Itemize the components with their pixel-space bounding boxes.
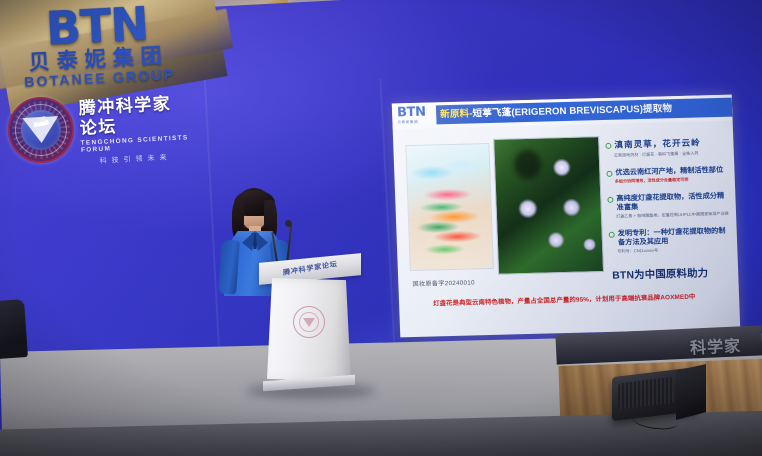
list-item: 滇南灵草，花开云岭 云南道地药材 · 灯盏花 · 菊科飞蓬属 · 全株入药 (605, 137, 728, 159)
bullet-head: 滇南灵草，花开云岭 (605, 137, 727, 151)
btn-wall-sign: BTN 贝泰妮集团 BOTANEE GROUP (12, 0, 184, 91)
speaker-arm-left (218, 239, 240, 294)
screenshot-photo: BTN 贝泰妮集团 BOTANEE GROUP 腾冲科学家论坛 TENGCHON… (0, 0, 762, 456)
forum-logo: 腾冲科学家论坛 TENGCHONG SCIENTISTS FORUM 科技引领未… (6, 89, 190, 170)
slide-slogan: BTN为中国原料助力 (612, 264, 709, 282)
left-stage-equipment (0, 299, 28, 359)
list-item: 优选云南红河产地，精制活性部位 多组分协同增效，活性成分含量稳定可控 (606, 164, 729, 184)
slide-image-flowers (493, 136, 604, 275)
slide-bullet-list: 滇南灵草，花开云岭 云南道地药材 · 灯盏花 · 菊科飞蓬属 · 全株入药 优选… (605, 137, 731, 264)
bullet-head: 优选云南红河产地，精制活性部位 (606, 164, 728, 176)
slide-btn-logo: BTN 贝泰妮集团 (397, 105, 436, 124)
forum-logo-text: 腾冲科学家论坛 TENGCHONG SCIENTISTS FORUM 科技引领未… (78, 93, 189, 167)
podium-emblem-icon (293, 306, 325, 338)
forum-emblem-icon (6, 95, 75, 164)
slide-red-note: 灯盏花是典型云南特色植物，产量占全国总产量的95%，计划用于高端抗衰品牌AOXM… (433, 291, 715, 307)
bullet-subtext: 专利号：CN11xxxxx号 (609, 245, 731, 254)
bullet-head: 发明专利：一种灯盏花提取物的制备方法及其应用 (608, 225, 731, 246)
bullet-heading: 滇南灵草，花开云岭 (614, 137, 701, 150)
stage-side-panel-text: 科学家 (690, 330, 762, 359)
stage-monitor-speaker (612, 364, 708, 426)
microphone-icon (285, 220, 292, 227)
bullet-heading: 高纯度灯盏花提取物，活性成分精准富集 (616, 190, 730, 211)
bullet-heading: 发明专利：一种灯盏花提取物的制备方法及其应用 (617, 225, 731, 246)
list-item: 发明专利：一种灯盏花提取物的制备方法及其应用 专利号：CN11xxxxx号 (608, 225, 731, 254)
slide-title-main: 短葶飞蓬(ERIGERON BREVISCAPUS)提取物 (472, 103, 672, 119)
projection-slide: BTN 贝泰妮集团 新原料-短葶飞蓬(ERIGERON BREVISCAPUS)… (392, 95, 740, 338)
podium: 腾冲科学家论坛 (259, 258, 361, 390)
bullet-subtext: 云南道地药材 · 灯盏花 · 菊科飞蓬属 · 全株入药 (606, 149, 728, 158)
bullet-heading: 优选云南红河产地，精制活性部位 (615, 165, 723, 177)
bullet-marker-icon (609, 231, 615, 237)
bullet-subtext: 多组分协同增效，活性成分含量稳定可控 (607, 175, 729, 184)
slide-registration-number: 国妆原备字20240010 (412, 277, 475, 288)
slide-btn-logo-text: BTN (397, 105, 435, 119)
slide-image-landscape (405, 143, 494, 271)
speaker-front-face (676, 364, 706, 420)
bullet-head: 高纯度灯盏花提取物，活性成分精准富集 (607, 190, 730, 211)
bullet-subtext: 灯盏乙素 + 咖啡酸酯类，定量控制UHPLC中国国家标准产业链 (608, 210, 730, 219)
bullet-marker-icon (605, 143, 611, 149)
list-item: 高纯度灯盏花提取物，活性成分精准富集 灯盏乙素 + 咖啡酸酯类，定量控制UHPL… (607, 190, 730, 219)
forum-name-english: TENGCHONG SCIENTISTS FORUM (81, 134, 190, 154)
forum-name-chinese: 腾冲科学家论坛 (78, 93, 188, 138)
bullet-marker-icon (606, 170, 612, 176)
slide-content: BTN 贝泰妮集团 新原料-短葶飞蓬(ERIGERON BREVISCAPUS)… (392, 95, 740, 338)
bullet-marker-icon (607, 196, 613, 202)
slide-title-prefix: 新原料- (440, 108, 473, 120)
